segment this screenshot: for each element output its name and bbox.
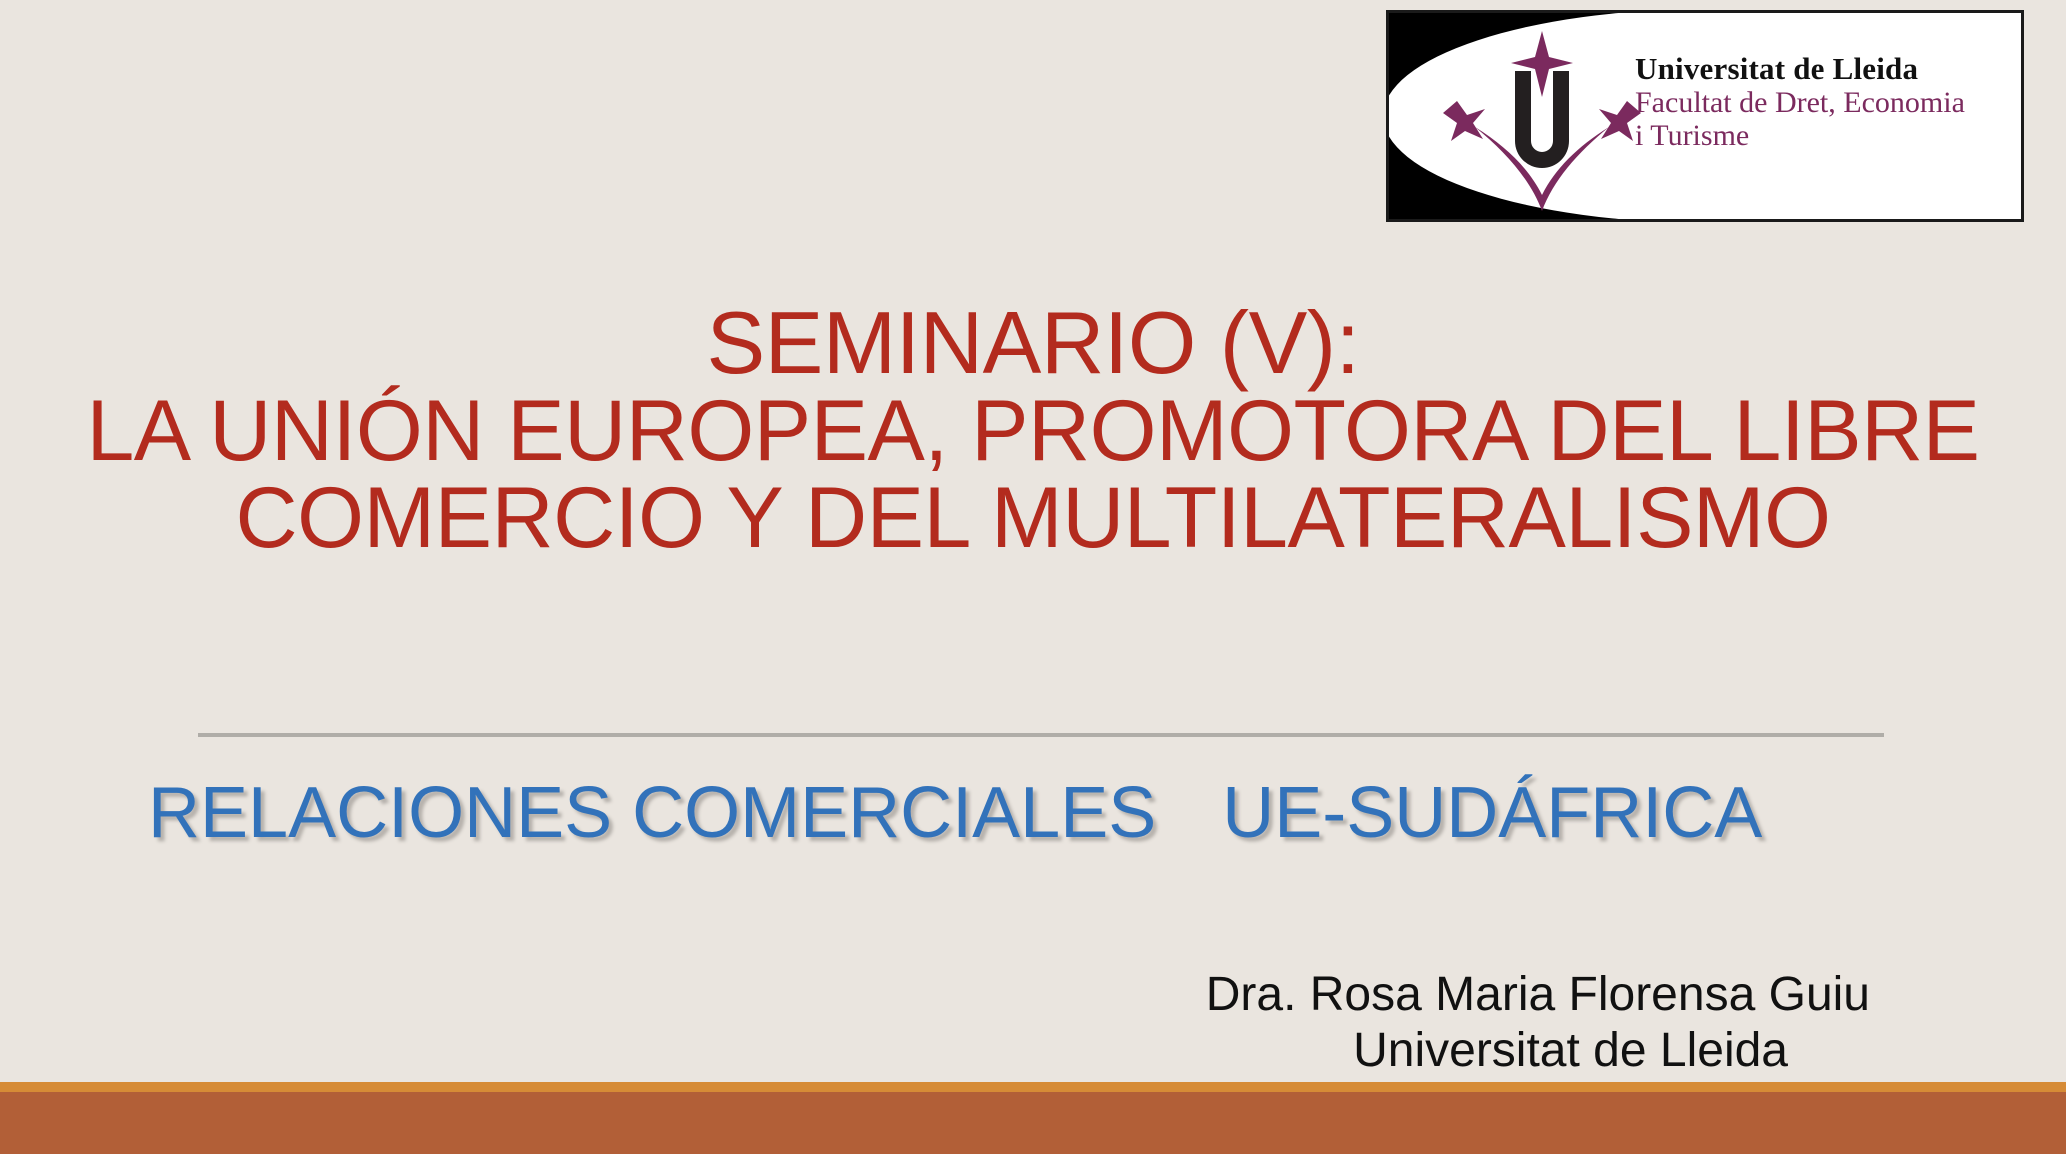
logo-faculty-line-1: Facultat de Dret, Economia bbox=[1635, 86, 2015, 120]
logo-faculty-line-2: i Turisme bbox=[1635, 119, 2015, 153]
author-name: Dra. Rosa Maria Florensa Guiu bbox=[0, 967, 1870, 1023]
slide-title-line-3: COMERCIO Y DEL MULTILATERALISMO bbox=[0, 475, 2066, 563]
presentation-slide: Universitat de Lleida Facultat de Dret, … bbox=[0, 0, 2066, 1154]
udl-emblem-icon bbox=[1427, 23, 1657, 215]
slide-subtitle: RELACIONES COMERCIALESUE-SUDÁFRICA bbox=[0, 772, 2066, 854]
footer-bar bbox=[0, 1092, 2066, 1154]
logo-university-name: Universitat de Lleida bbox=[1635, 53, 2015, 86]
title-divider bbox=[198, 733, 1884, 737]
footer-accent-bar bbox=[0, 1082, 2066, 1092]
logo-text-block: Universitat de Lleida Facultat de Dret, … bbox=[1635, 53, 2015, 153]
university-logo: Universitat de Lleida Facultat de Dret, … bbox=[1386, 10, 2024, 222]
slide-title: SEMINARIO (V): LA UNIÓN EUROPEA, PROMOTO… bbox=[0, 298, 2066, 563]
author-affiliation: Universitat de Lleida bbox=[0, 1023, 1788, 1079]
subtitle-topic: RELACIONES COMERCIALES bbox=[148, 773, 1156, 853]
author-block: Dra. Rosa Maria Florensa Guiu Universita… bbox=[0, 967, 1870, 1078]
slide-title-line-2: LA UNIÓN EUROPEA, PROMOTORA DEL LIBRE bbox=[0, 388, 2066, 476]
subtitle-region: UE-SUDÁFRICA bbox=[1222, 773, 1762, 853]
slide-title-line-1: SEMINARIO (V): bbox=[0, 298, 2066, 388]
